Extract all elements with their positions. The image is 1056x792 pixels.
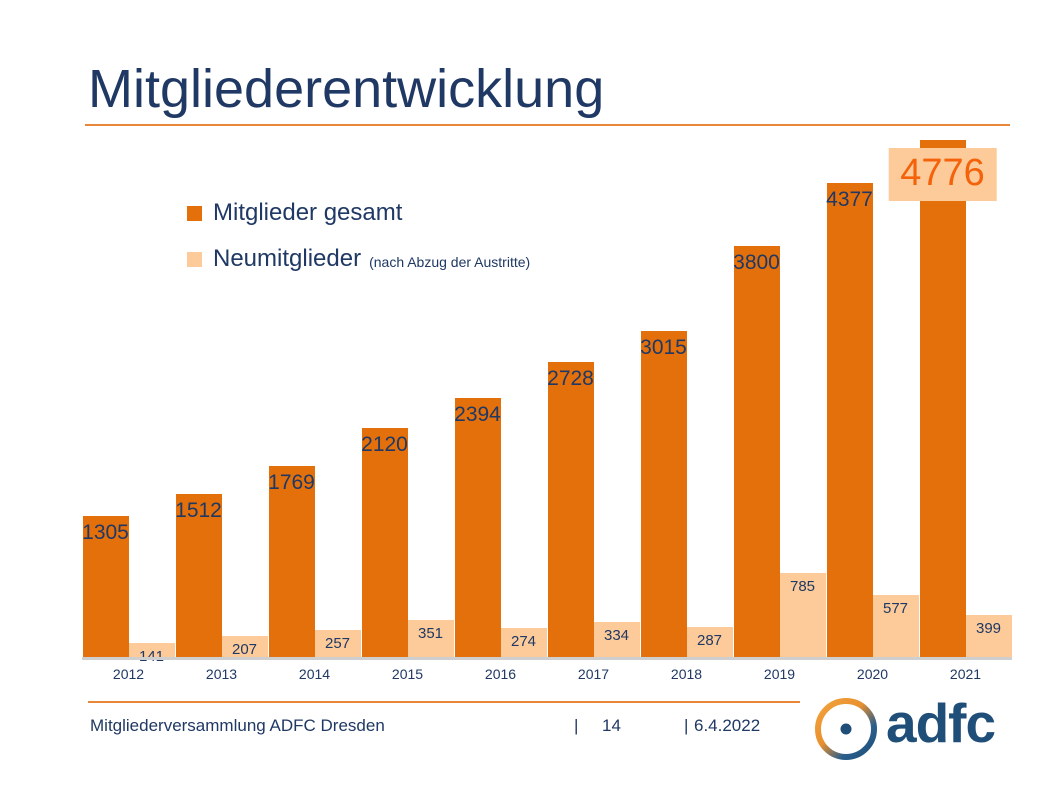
adfc-logo: adfc — [810, 694, 1025, 764]
bar-value-new-2015: 351 — [418, 626, 443, 641]
bar-total-2018[interactable]: 3015 — [641, 331, 687, 658]
bar-new-2014[interactable]: 257 — [315, 630, 361, 658]
chart-group-2017: 2728334 — [547, 140, 640, 658]
adfc-wordmark: adfc — [886, 696, 995, 751]
bar-total-2020[interactable]: 4377 — [827, 183, 873, 658]
axis-tick-2016: 2016 — [485, 666, 516, 682]
bar-value-total-2014: 1769 — [268, 472, 315, 493]
bar-value-new-2021: 399 — [976, 621, 1001, 636]
bar-value-total-2013: 1512 — [175, 500, 222, 521]
footer-date: 6.4.2022 — [694, 716, 760, 736]
bar-new-2018[interactable]: 287 — [687, 627, 733, 658]
bar-total-2016[interactable]: 2394 — [455, 398, 501, 658]
bar-value-total-2018: 3015 — [640, 337, 687, 358]
footer-separator-2: | — [684, 716, 688, 736]
chart-group-2014: 1769257 — [268, 140, 361, 658]
chart-group-2012: 1305141 — [82, 140, 175, 658]
title-divider — [85, 124, 1010, 126]
bar-total-2021[interactable]: 4776 — [920, 140, 966, 658]
chart-group-2019: 3800785 — [733, 140, 826, 658]
bar-value-total-2021: 4776 — [888, 148, 997, 201]
chart-group-2021: 4776399 — [919, 140, 1012, 658]
axis-tick-2018: 2018 — [671, 666, 702, 682]
bar-value-new-2014: 257 — [325, 636, 350, 651]
chart-plot-area: 1305141151220717692572120351239427427283… — [82, 140, 1012, 658]
bar-new-2019[interactable]: 785 — [780, 573, 826, 658]
bar-total-2019[interactable]: 3800 — [734, 246, 780, 658]
slide-canvas: Mitgliederentwicklung Mitglieder gesamt … — [0, 0, 1056, 792]
chart-axis-line — [82, 657, 1012, 660]
bar-total-2014[interactable]: 1769 — [269, 466, 315, 658]
chart-group-2020: 4377577 — [826, 140, 919, 658]
bar-value-total-2019: 3800 — [733, 252, 780, 273]
bar-total-2012[interactable]: 1305 — [83, 516, 129, 658]
bar-value-total-2020: 4377 — [826, 189, 873, 210]
chart-group-2018: 3015287 — [640, 140, 733, 658]
axis-tick-2020: 2020 — [857, 666, 888, 682]
bar-value-new-2016: 274 — [511, 634, 536, 649]
bar-value-new-2019: 785 — [790, 579, 815, 594]
axis-tick-2017: 2017 — [578, 666, 609, 682]
bar-value-total-2016: 2394 — [454, 404, 501, 425]
bar-total-2015[interactable]: 2120 — [362, 428, 408, 658]
bar-total-2017[interactable]: 2728 — [548, 362, 594, 658]
bar-value-total-2012: 1305 — [82, 522, 129, 543]
bar-value-new-2018: 287 — [697, 633, 722, 648]
bar-value-new-2017: 334 — [604, 628, 629, 643]
bar-total-2013[interactable]: 1512 — [176, 494, 222, 658]
bar-new-2017[interactable]: 334 — [594, 622, 640, 658]
footer-divider — [88, 701, 800, 703]
axis-tick-2014: 2014 — [299, 666, 330, 682]
chart-axis-labels: 2012201320142015201620172018201920202021 — [82, 666, 1012, 690]
footer-event-label: Mitgliederversammlung ADFC Dresden — [90, 716, 385, 736]
bar-new-2021[interactable]: 399 — [966, 615, 1012, 658]
axis-tick-2012: 2012 — [113, 666, 144, 682]
page-title: Mitgliederentwicklung — [88, 58, 604, 120]
axis-tick-2015: 2015 — [392, 666, 423, 682]
axis-tick-2019: 2019 — [764, 666, 795, 682]
footer: Mitgliederversammlung ADFC Dresden | 14 … — [90, 714, 790, 744]
bar-value-new-2020: 577 — [883, 601, 908, 616]
axis-tick-2021: 2021 — [950, 666, 981, 682]
bar-new-2013[interactable]: 207 — [222, 636, 268, 658]
bar-value-total-2015: 2120 — [361, 434, 408, 455]
bar-value-new-2013: 207 — [232, 642, 257, 657]
chart-group-2016: 2394274 — [454, 140, 547, 658]
footer-separator-1: | — [574, 716, 578, 736]
adfc-ring-icon — [810, 694, 882, 764]
bar-new-2020[interactable]: 577 — [873, 595, 919, 658]
chart-group-2015: 2120351 — [361, 140, 454, 658]
bar-value-total-2017: 2728 — [547, 368, 594, 389]
bar-new-2016[interactable]: 274 — [501, 628, 547, 658]
bar-new-2012[interactable]: 141 — [129, 643, 175, 658]
bar-new-2015[interactable]: 351 — [408, 620, 454, 658]
footer-page-number: 14 — [602, 716, 621, 736]
axis-tick-2013: 2013 — [206, 666, 237, 682]
chart-group-2013: 1512207 — [175, 140, 268, 658]
